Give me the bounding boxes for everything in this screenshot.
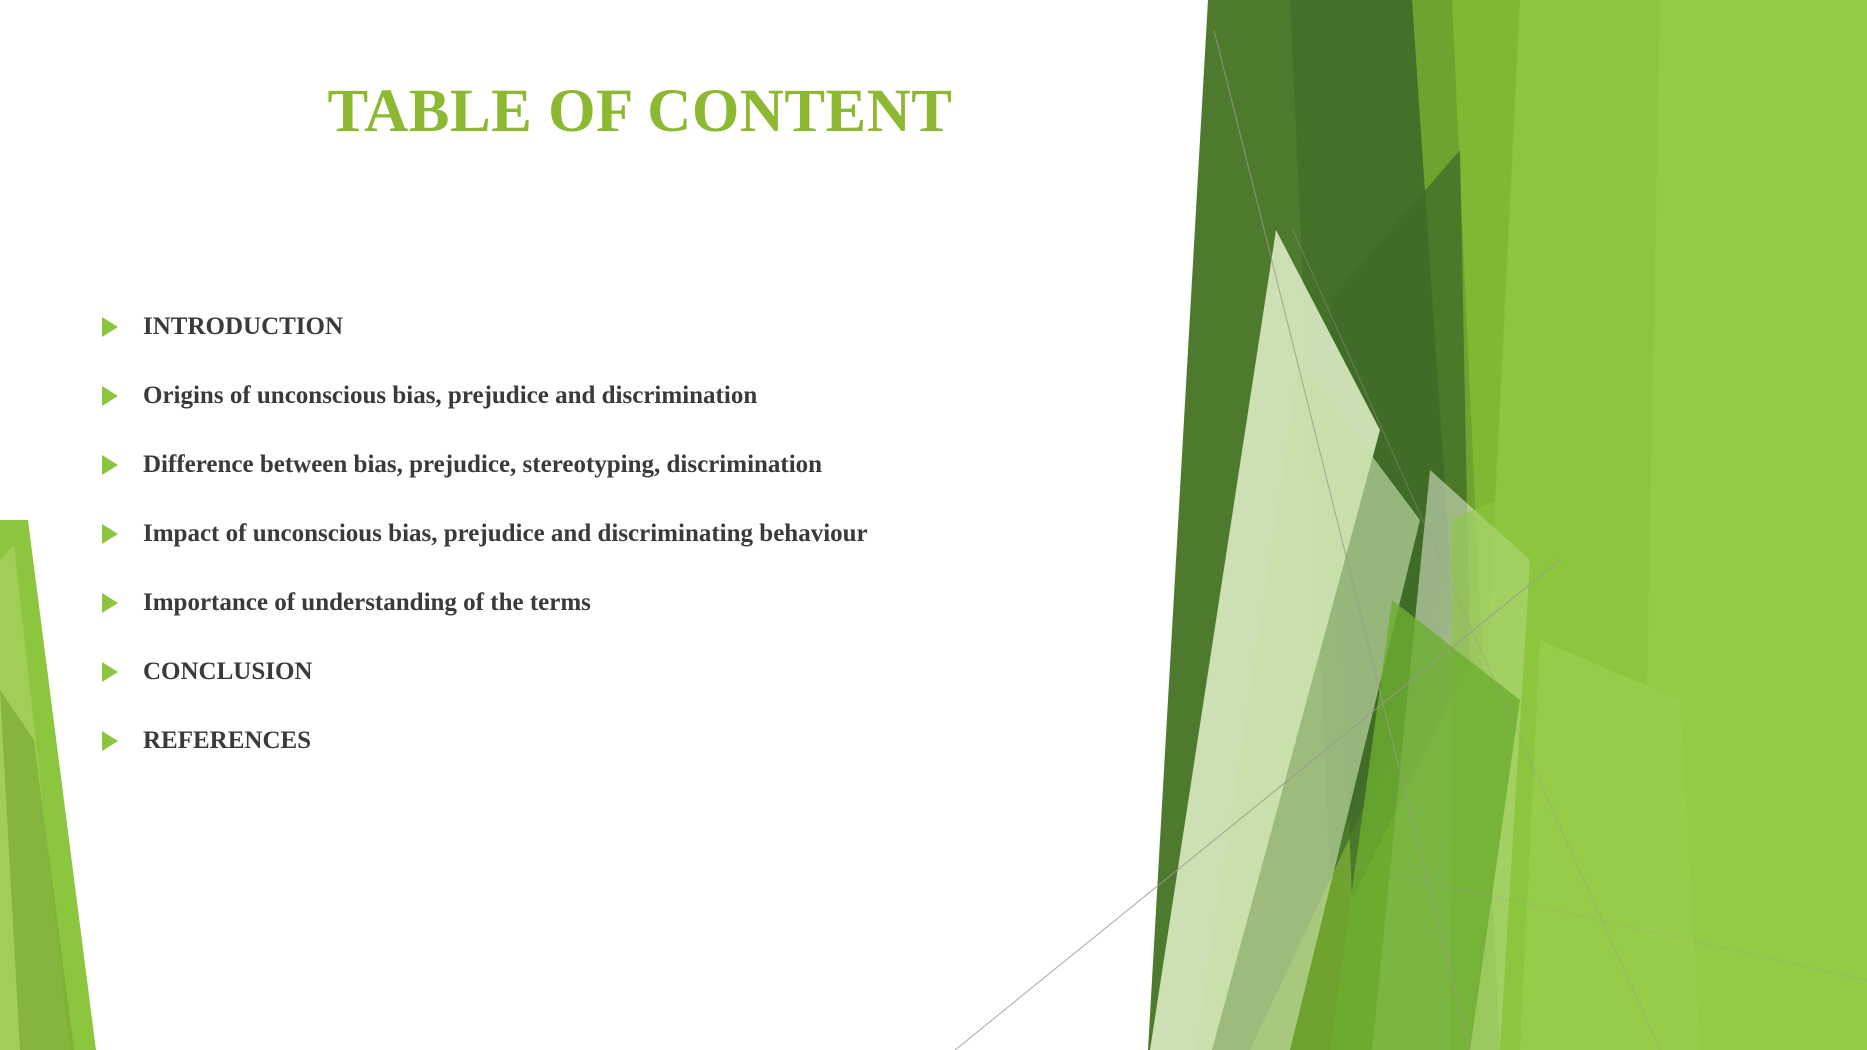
list-item[interactable]: Impact of unconscious bias, prejudice an… <box>96 499 1156 568</box>
list-item[interactable]: INTRODUCTION <box>96 292 1156 361</box>
page-title: TABLE OF CONTENT <box>0 80 1280 144</box>
list-item[interactable]: Importance of understanding of the terms <box>96 568 1156 637</box>
triangle-right-bullet-icon <box>102 386 118 406</box>
triangle-right-bullet-icon <box>102 662 118 682</box>
list-item[interactable]: REFERENCES <box>96 706 1156 775</box>
list-item-label: REFERENCES <box>143 726 311 756</box>
triangle-right-bullet-icon <box>102 455 118 475</box>
list-item-label: Impact of unconscious bias, prejudice an… <box>143 519 868 549</box>
triangle-right-bullet-icon <box>102 524 118 544</box>
triangle-right-bullet-icon <box>102 593 118 613</box>
corner-wedge-bottom-left <box>0 520 96 1050</box>
list-item[interactable]: Difference between bias, prejudice, ster… <box>96 430 1156 499</box>
triangle-right-bullet-icon <box>102 731 118 751</box>
list-item-label: Importance of understanding of the terms <box>143 588 591 618</box>
list-item-label: CONCLUSION <box>143 657 312 687</box>
list-item-label: INTRODUCTION <box>143 312 343 342</box>
title-block: TABLE OF CONTENT <box>0 80 1280 144</box>
list-item[interactable]: Origins of unconscious bias, prejudice a… <box>96 361 1156 430</box>
presentation-slide: TABLE OF CONTENT INTRODUCTION Origins of… <box>0 0 1867 1050</box>
list-item-label: Origins of unconscious bias, prejudice a… <box>143 381 757 411</box>
list-item-label: Difference between bias, prejudice, ster… <box>143 450 822 480</box>
table-of-content-list: INTRODUCTION Origins of unconscious bias… <box>96 292 1156 775</box>
list-item[interactable]: CONCLUSION <box>96 637 1156 706</box>
triangle-right-bullet-icon <box>102 317 118 337</box>
